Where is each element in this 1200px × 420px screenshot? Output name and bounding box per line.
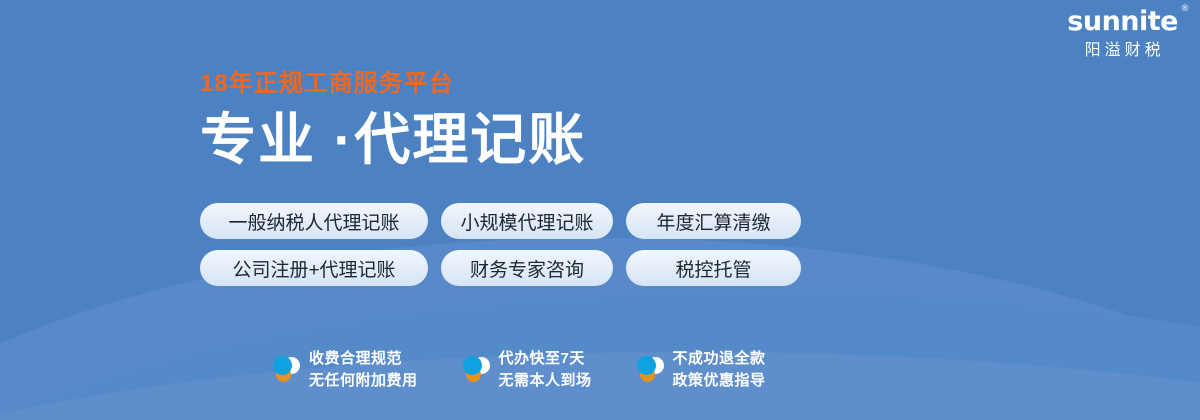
logo-brand-text: sunnite ® (1067, 8, 1178, 35)
circle-blue-shape (637, 356, 656, 375)
page-title: 专业 ·代理记账 (200, 110, 586, 170)
service-pill-grid: 一般纳税人代理记账 小规模代理记账 年度汇算清缴 公司注册+代理记账 财务专家咨… (200, 203, 801, 286)
service-pill-expert-consulting[interactable]: 财务专家咨询 (441, 250, 613, 286)
circle-blue-shape (273, 356, 292, 375)
three-circles-icon (272, 354, 300, 386)
feature-line-1: 代办快至7天 (499, 348, 592, 370)
service-pill-annual-settlement[interactable]: 年度汇算清缴 (626, 203, 801, 239)
feature-item-speed: 代办快至7天 无需本人到场 (462, 348, 592, 392)
service-pill-row: 公司注册+代理记账 财务专家咨询 税控托管 (200, 250, 801, 286)
feature-line-2: 政策优惠指导 (673, 370, 766, 392)
service-pill-company-registration[interactable]: 公司注册+代理记账 (200, 250, 428, 286)
service-pill-tax-control-hosting[interactable]: 税控托管 (626, 250, 801, 286)
three-circles-icon (462, 354, 490, 386)
feature-line-2: 无需本人到场 (499, 370, 592, 392)
registered-trademark-icon: ® (1181, 5, 1190, 14)
feature-line-2: 无任何附加费用 (309, 370, 418, 392)
service-pill-row: 一般纳税人代理记账 小规模代理记账 年度汇算清缴 (200, 203, 801, 239)
logo-brand-cn: 阳溢财税 (1067, 43, 1178, 59)
feature-text-pricing: 收费合理规范 无任何附加费用 (309, 348, 418, 392)
service-pill-general-taxpayer[interactable]: 一般纳税人代理记账 (200, 203, 428, 239)
feature-text-guarantee: 不成功退全款 政策优惠指导 (673, 348, 766, 392)
circle-blue-shape (463, 356, 482, 375)
logo-brand-name: sunnite (1067, 6, 1178, 37)
feature-text-speed: 代办快至7天 无需本人到场 (499, 348, 592, 392)
feature-item-guarantee: 不成功退全款 政策优惠指导 (636, 348, 766, 392)
feature-line-1: 不成功退全款 (673, 348, 766, 370)
three-circles-icon (636, 354, 664, 386)
eyebrow-text: 18年正规工商服务平台 (200, 72, 586, 96)
feature-item-pricing: 收费合理规范 无任何附加费用 (272, 348, 418, 392)
feature-line-1: 收费合理规范 (309, 348, 418, 370)
headline-block: 18年正规工商服务平台 专业 ·代理记账 (200, 72, 586, 170)
feature-list: 收费合理规范 无任何附加费用 代办快至7天 无需本人到场 不成功退全款 (272, 348, 766, 392)
company-logo[interactable]: sunnite ® 阳溢财税 (1067, 8, 1178, 59)
promo-banner: sunnite ® 阳溢财税 18年正规工商服务平台 专业 ·代理记账 一般纳税… (0, 0, 1200, 420)
service-pill-small-scale[interactable]: 小规模代理记账 (441, 203, 613, 239)
